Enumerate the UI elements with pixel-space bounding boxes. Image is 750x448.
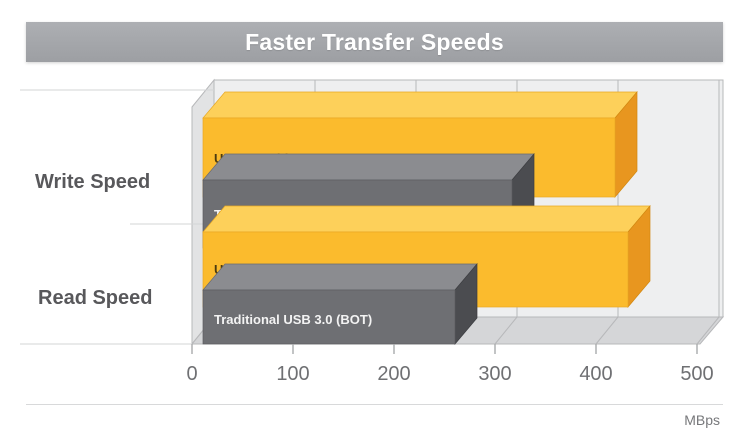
xtick-label-100: 100	[276, 363, 309, 385]
category-label-write-speed: Write Speed	[35, 171, 150, 193]
bar-read-bot[interactable]: Traditional USB 3.0 (BOT)	[203, 264, 477, 344]
bottom-divider	[26, 404, 723, 405]
category-label-read-speed: Read Speed	[38, 287, 152, 309]
xtick-label-400: 400	[579, 363, 612, 385]
bar-chart-plot: USB 3.0 with UASP Traditional USB 3.0 (B…	[0, 62, 750, 412]
axis-unit-label: MBps	[684, 412, 720, 428]
xtick-label-500: 500	[680, 363, 713, 385]
axis-ticks	[192, 344, 697, 354]
xtick-label-200: 200	[377, 363, 410, 385]
chart-title-banner: Faster Transfer Speeds	[26, 22, 723, 62]
page-title: Faster Transfer Speeds	[245, 29, 504, 56]
bar-label-read-bot: Traditional USB 3.0 (BOT)	[214, 312, 372, 327]
chart-container: Faster Transfer Speeds	[0, 0, 750, 448]
xtick-label-0: 0	[186, 363, 197, 385]
xtick-label-300: 300	[478, 363, 511, 385]
